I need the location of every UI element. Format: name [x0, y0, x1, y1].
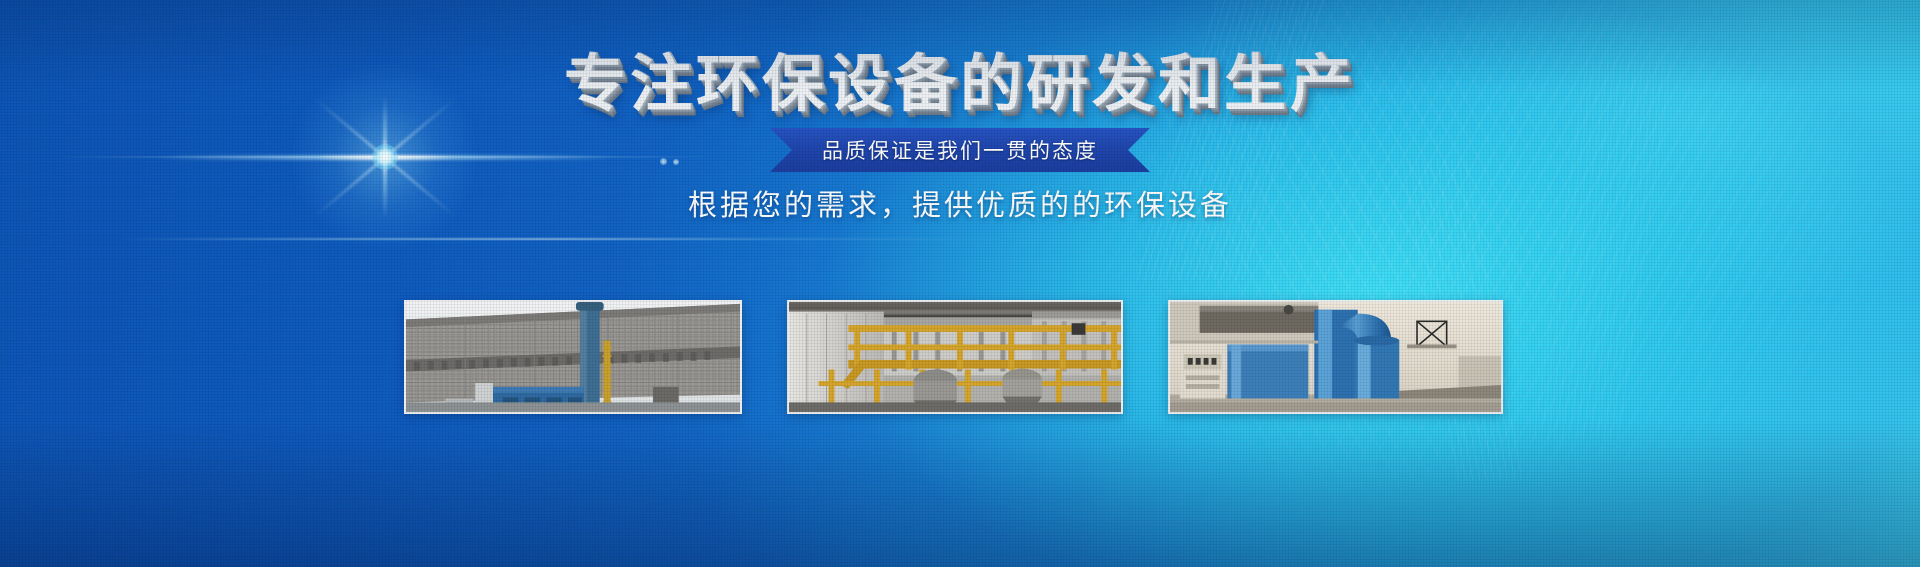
ribbon-label: 品质保证是我们一贯的态度: [822, 135, 1098, 165]
equipment-workshop-image: [789, 302, 1121, 412]
photo-thumbnail-3[interactable]: [1168, 300, 1503, 414]
factory-dust-collector-image: [406, 302, 740, 412]
exhaust-treatment-system-image: [1170, 302, 1501, 412]
photo-strip: [0, 300, 1920, 414]
banner-tagline: 根据您的需求，提供优质的的环保设备: [0, 182, 1920, 224]
banner-headline: 专注环保设备的研发和生产: [0, 54, 1920, 116]
ribbon-shape: 品质保证是我们一贯的态度: [770, 128, 1150, 172]
photo-thumbnail-1[interactable]: [404, 300, 742, 414]
banner-ribbon: 品质保证是我们一贯的态度: [0, 128, 1920, 176]
promo-banner: 专注环保设备的研发和生产 品质保证是我们一贯的态度 根据您的需求，提供优质的的环…: [0, 0, 1920, 567]
photo-thumbnail-2[interactable]: [787, 300, 1123, 414]
light-streak: [120, 238, 1020, 240]
